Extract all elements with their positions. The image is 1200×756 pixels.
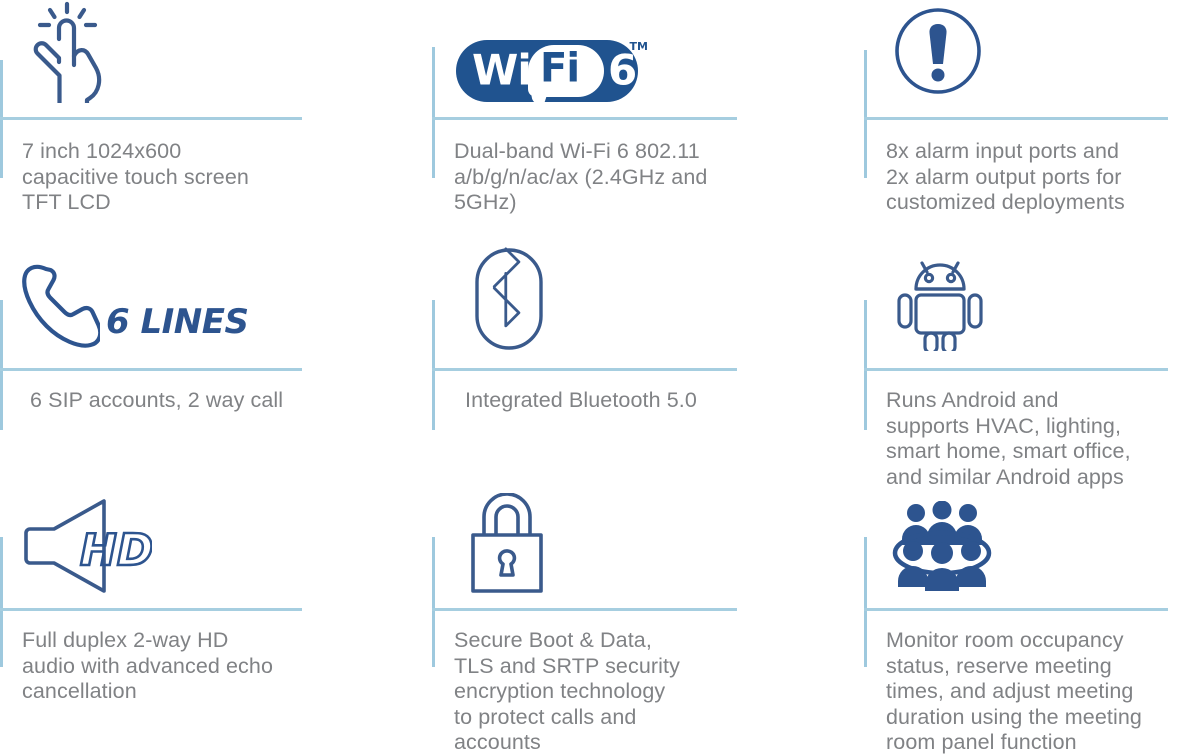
feature-card-sip-lines: 6 LINES 6 SIP accounts, 2 way call: [0, 252, 310, 452]
feature-card-wifi6: Wi Fi 6 TM Dual-band Wi-Fi 6 802.11 a/b/…: [432, 0, 742, 240]
vertical-accent-rule: [864, 50, 867, 178]
feature-card-android: Runs Android and supports HVAC, lighting…: [864, 252, 1174, 492]
wifi-logo-fi-text: Fi: [540, 46, 579, 92]
feature-description: Secure Boot & Data, TLS and SRTP securit…: [454, 628, 754, 756]
horizontal-separator: [432, 117, 737, 120]
svg-text:HD: HD: [80, 525, 152, 576]
feature-card-touch-screen: 7 inch 1024x600 capacitive touch screen …: [0, 0, 310, 240]
horizontal-separator: [432, 368, 737, 371]
android-robot-icon-wrap: [890, 252, 990, 356]
hd-speaker-icon-wrap: HD: [22, 500, 152, 600]
touch-gesture-icon-wrap: [20, 4, 124, 108]
feature-description: Monitor room occupancy status, reserve m…: [886, 628, 1200, 756]
horizontal-separator: [0, 368, 302, 371]
touch-gesture-icon: [20, 0, 124, 108]
feature-description: Integrated Bluetooth 5.0: [465, 388, 765, 414]
feature-card-hd-audio: HD Full duplex 2-way HD audio with advan…: [0, 492, 310, 756]
wifi-logo-wi-text: Wi: [472, 46, 531, 95]
feature-description: Dual-band Wi-Fi 6 802.11 a/b/g/n/ac/ax (…: [454, 139, 754, 216]
meeting-people-icon: [888, 501, 996, 596]
vertical-accent-rule: [432, 47, 435, 178]
horizontal-separator: [432, 608, 737, 611]
feature-description: 6 SIP accounts, 2 way call: [30, 388, 330, 414]
exclamation-circle-icon: [892, 5, 984, 102]
vertical-accent-rule: [0, 537, 3, 667]
padlock-icon: [468, 493, 546, 600]
feature-description: 8x alarm input ports and 2x alarm output…: [886, 139, 1186, 216]
feature-card-security: Secure Boot & Data, TLS and SRTP securit…: [432, 492, 742, 756]
vertical-accent-rule: [864, 537, 867, 667]
feature-card-alarm-ports: 8x alarm input ports and 2x alarm output…: [864, 0, 1174, 240]
feature-description: 7 inch 1024x600 capacitive touch screen …: [22, 139, 312, 216]
padlock-icon-wrap: [468, 496, 546, 600]
exclamation-circle-icon-wrap: [892, 10, 984, 102]
wifi-6-logo-wrap: Wi Fi 6 TM: [456, 32, 646, 102]
meeting-people-icon-wrap: [888, 500, 996, 596]
android-robot-icon: [890, 251, 990, 356]
vertical-accent-rule: [432, 537, 435, 667]
wifi-6-logo: Wi Fi 6 TM: [456, 40, 646, 102]
phone-handset-icon: [20, 261, 100, 356]
feature-grid: 7 inch 1024x600 capacitive touch screen …: [0, 0, 1200, 756]
horizontal-separator: [0, 117, 302, 120]
vertical-accent-rule: [432, 300, 435, 430]
sip-lines-label: 6 LINES: [106, 302, 248, 342]
horizontal-separator: [864, 117, 1168, 120]
hd-speaker-icon: HD: [22, 497, 152, 600]
phone-handset-icon-wrap: 6 LINES: [20, 260, 248, 356]
bluetooth-icon-wrap: [474, 252, 544, 356]
horizontal-separator: [864, 608, 1168, 611]
feature-description: Full duplex 2-way HD audio with advanced…: [22, 628, 322, 705]
horizontal-separator: [864, 368, 1168, 371]
trademark-icon: TM: [630, 40, 648, 53]
horizontal-separator: [0, 608, 302, 611]
vertical-accent-rule: [0, 300, 3, 430]
feature-card-bluetooth: Integrated Bluetooth 5.0: [432, 252, 742, 452]
vertical-accent-rule: [864, 300, 867, 430]
feature-description: Runs Android and supports HVAC, lighting…: [886, 388, 1191, 490]
feature-card-meeting-room: Monitor room occupancy status, reserve m…: [864, 492, 1200, 756]
bluetooth-icon: [474, 247, 544, 356]
